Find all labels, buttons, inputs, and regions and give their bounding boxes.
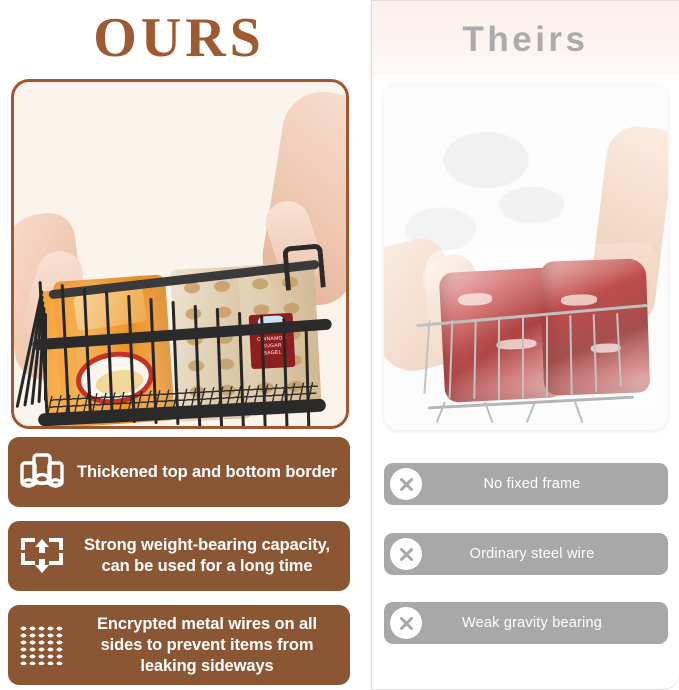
basket-wire xyxy=(423,320,430,394)
ours-feature-label: Encrypted metal wires on all sides to pr… xyxy=(74,614,340,677)
basket-side-wire xyxy=(44,313,47,401)
theirs-title: Theirs xyxy=(372,1,679,77)
basket-wire xyxy=(473,319,476,399)
theirs-feature-row: Ordinary steel wire xyxy=(384,533,668,575)
comparison-infographic: OURS CINNAMON xyxy=(0,0,679,690)
silver-wire-basket xyxy=(410,306,656,426)
x-circle-icon xyxy=(390,468,422,500)
x-circle-icon xyxy=(390,607,422,639)
basket-wire xyxy=(449,320,454,398)
ours-feature-row: Strong weight-bearing capacity, can be u… xyxy=(8,521,350,591)
mesh-pattern xyxy=(19,625,65,665)
basket-wire xyxy=(569,315,572,395)
basket-wire xyxy=(522,317,524,399)
basket-leg xyxy=(526,402,536,423)
black-wire-basket xyxy=(22,237,340,427)
theirs-feature-label: Ordinary steel wire xyxy=(422,546,668,562)
theirs-panel: Theirs xyxy=(371,0,679,690)
ours-feature-row: Encrypted metal wires on all sides to pr… xyxy=(8,605,350,685)
basket-wire xyxy=(616,313,622,387)
metal-mesh-icon xyxy=(16,619,68,671)
weight-bearing-icon xyxy=(16,530,68,582)
basket-wire xyxy=(546,316,548,397)
ours-product-photo: CINNAMON SUGAR BAGEL xyxy=(11,79,349,429)
basket-wire xyxy=(593,314,598,392)
thick-border-icon xyxy=(16,446,68,498)
theirs-feature-row: No fixed frame xyxy=(384,463,668,505)
ours-feature-label: Strong weight-bearing capacity, can be u… xyxy=(74,535,340,577)
ours-photo-scene: CINNAMON SUGAR BAGEL xyxy=(14,82,346,426)
theirs-feature-row: Weak gravity bearing xyxy=(384,602,668,644)
ours-feature-label: Thickened top and bottom border xyxy=(74,462,340,483)
ours-panel: OURS CINNAMON xyxy=(0,0,358,690)
basket-leg xyxy=(574,402,583,423)
ours-title: OURS xyxy=(0,2,358,74)
ours-feature-row: Thickened top and bottom border xyxy=(8,437,350,507)
basket-wire xyxy=(304,322,310,429)
theirs-product-photo xyxy=(384,84,668,430)
basket-wire xyxy=(498,318,500,400)
theirs-feature-label: Weak gravity bearing xyxy=(422,615,668,631)
x-circle-icon xyxy=(390,538,422,570)
theirs-feature-label: No fixed frame xyxy=(422,476,668,492)
